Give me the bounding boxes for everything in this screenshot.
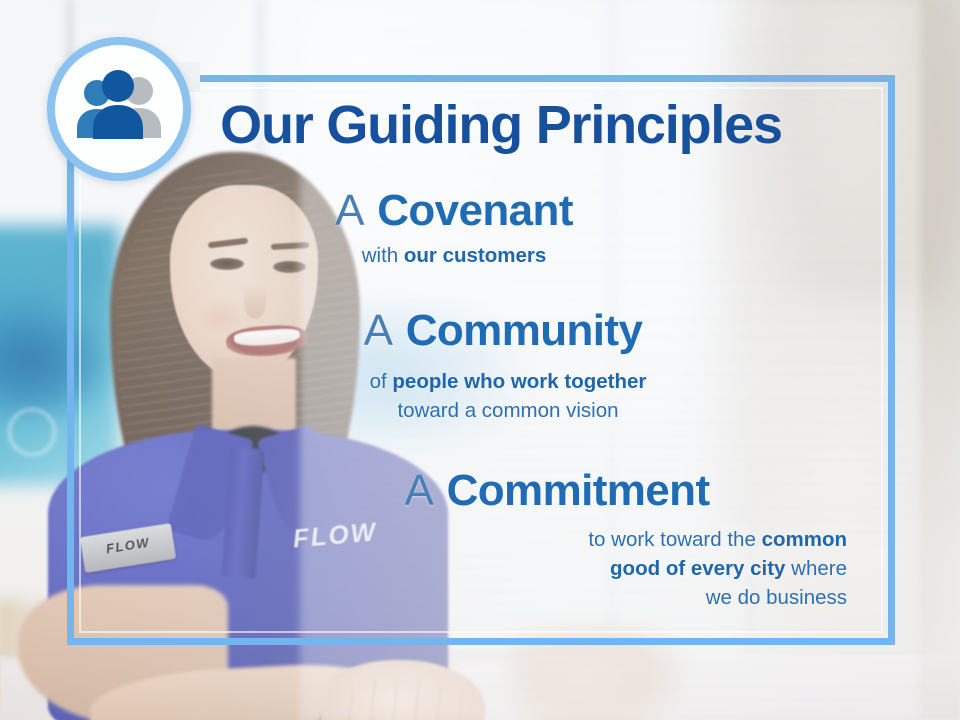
principle-subtext-line: to work toward the common <box>95 525 847 554</box>
principle-subtext: of people who work together toward a com… <box>95 367 865 425</box>
principle-heading: A Commitment <box>95 468 865 515</box>
principle-keyword: Community <box>406 306 643 355</box>
principle-subtext-line: toward a common vision <box>151 396 865 425</box>
principle-article: A <box>405 466 435 515</box>
principle-subtext: with our customers <box>95 241 865 270</box>
principle-article: A <box>364 306 394 355</box>
principle-subtext-line: of people who work together <box>151 367 865 396</box>
principle-heading: A Community <box>95 308 865 355</box>
principle-keyword: Covenant <box>377 186 573 235</box>
principle-heading: A Covenant <box>95 188 865 235</box>
guiding-principles-graphic: FLOW FLOW <box>0 0 960 720</box>
principles-content: Our Guiding Principles A Covenant with o… <box>95 80 865 640</box>
principle-article: A <box>335 186 365 235</box>
page-title: Our Guiding Principles <box>95 98 865 153</box>
principle-subtext-line: with our customers <box>95 241 813 270</box>
principle-community: A Community of people who work together … <box>95 308 865 425</box>
principle-commitment: A Commitment to work toward the common g… <box>95 468 865 612</box>
principle-subtext-line: we do business <box>95 583 847 612</box>
principle-keyword: Commitment <box>447 466 710 515</box>
principle-covenant: A Covenant with our customers <box>95 188 865 270</box>
principle-subtext-line: good of every city where <box>95 554 847 583</box>
principle-subtext: to work toward the common good of every … <box>95 525 865 612</box>
